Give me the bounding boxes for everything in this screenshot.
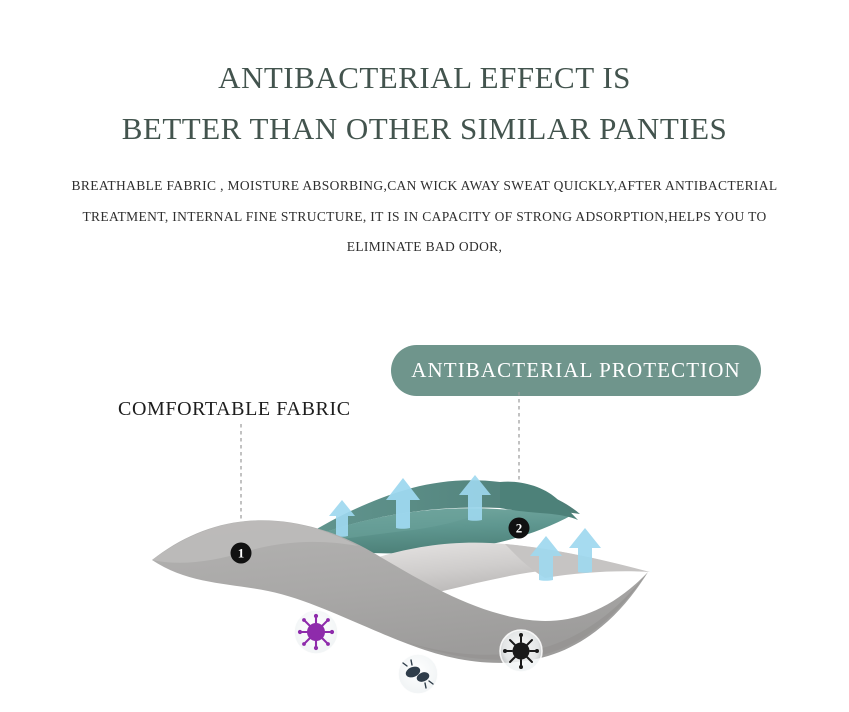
germ-icon-bacteria-dark xyxy=(398,654,438,694)
airflow-arrows-right xyxy=(530,528,601,581)
page-title-line-2: BETTER THAN OTHER SIMILAR PANTIES xyxy=(0,111,849,147)
gray-fabric-layer-light xyxy=(330,543,650,607)
germ-icon-virus-black xyxy=(500,630,542,672)
marker-two-label: 2 xyxy=(516,521,523,536)
germ-icon-virus-purple xyxy=(294,610,338,654)
description-line-3: ELIMINATE BAD ODOR, xyxy=(0,239,849,255)
infographic-canvas: ANTIBACTERIAL EFFECT IS BETTER THAN OTHE… xyxy=(0,0,849,712)
comfortable-fabric-label: COMFORTABLE FABRIC xyxy=(118,398,351,421)
marker-one-label: 1 xyxy=(238,546,245,561)
badge-label: ANTIBACTERIAL PROTECTION xyxy=(411,358,741,383)
antibacterial-protection-badge: ANTIBACTERIAL PROTECTION xyxy=(391,345,761,396)
description-line-1: BREATHABLE FABRIC , MOISTURE ABSORBING,C… xyxy=(0,178,849,194)
airflow-arrows-left xyxy=(329,475,491,537)
page-title-line-1: ANTIBACTERIAL EFFECT IS xyxy=(0,60,849,96)
marker-one: 1 xyxy=(231,543,252,564)
teal-fabric-layer xyxy=(291,480,580,553)
description-line-2: TREATMENT, INTERNAL FINE STRUCTURE, IT I… xyxy=(0,209,849,225)
marker-two: 2 xyxy=(509,518,530,539)
gray-fabric-layer-main xyxy=(152,520,648,663)
